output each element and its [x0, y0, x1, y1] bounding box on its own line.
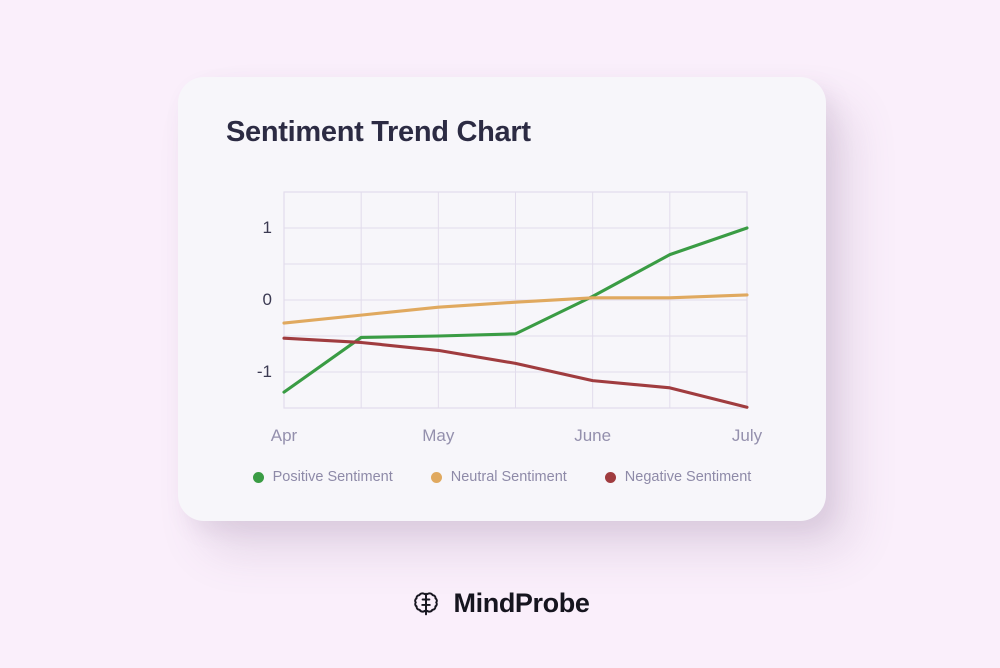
chart-plot-region: 10-1 AprMayJuneJuly: [178, 77, 826, 521]
line-chart-svg: [178, 77, 826, 521]
x-axis-tick-label: June: [548, 426, 638, 446]
chart-card: Sentiment Trend Chart 10-1 AprMayJuneJul…: [178, 77, 826, 521]
legend-swatch-dot-icon: [253, 472, 264, 483]
legend-label: Neutral Sentiment: [451, 469, 567, 485]
legend-item[interactable]: Negative Sentiment: [605, 469, 752, 485]
legend-swatch-dot-icon: [605, 472, 616, 483]
legend-item[interactable]: Positive Sentiment: [253, 469, 393, 485]
chart-gridlines: [284, 192, 747, 408]
chart-legend: Positive SentimentNeutral SentimentNegat…: [178, 469, 826, 485]
y-axis-tick-label: 0: [238, 290, 272, 310]
x-axis-tick-label: July: [702, 426, 792, 446]
legend-swatch-dot-icon: [431, 472, 442, 483]
brand-footer: MindProbe: [0, 588, 1000, 619]
brand-name: MindProbe: [454, 588, 590, 619]
legend-label: Negative Sentiment: [625, 469, 752, 485]
y-axis-tick-label: 1: [238, 218, 272, 238]
brain-icon: [411, 589, 441, 619]
y-axis-tick-label: -1: [238, 362, 272, 382]
legend-item[interactable]: Neutral Sentiment: [431, 469, 567, 485]
x-axis-tick-label: May: [393, 426, 483, 446]
x-axis-tick-label: Apr: [239, 426, 329, 446]
legend-label: Positive Sentiment: [273, 469, 393, 485]
